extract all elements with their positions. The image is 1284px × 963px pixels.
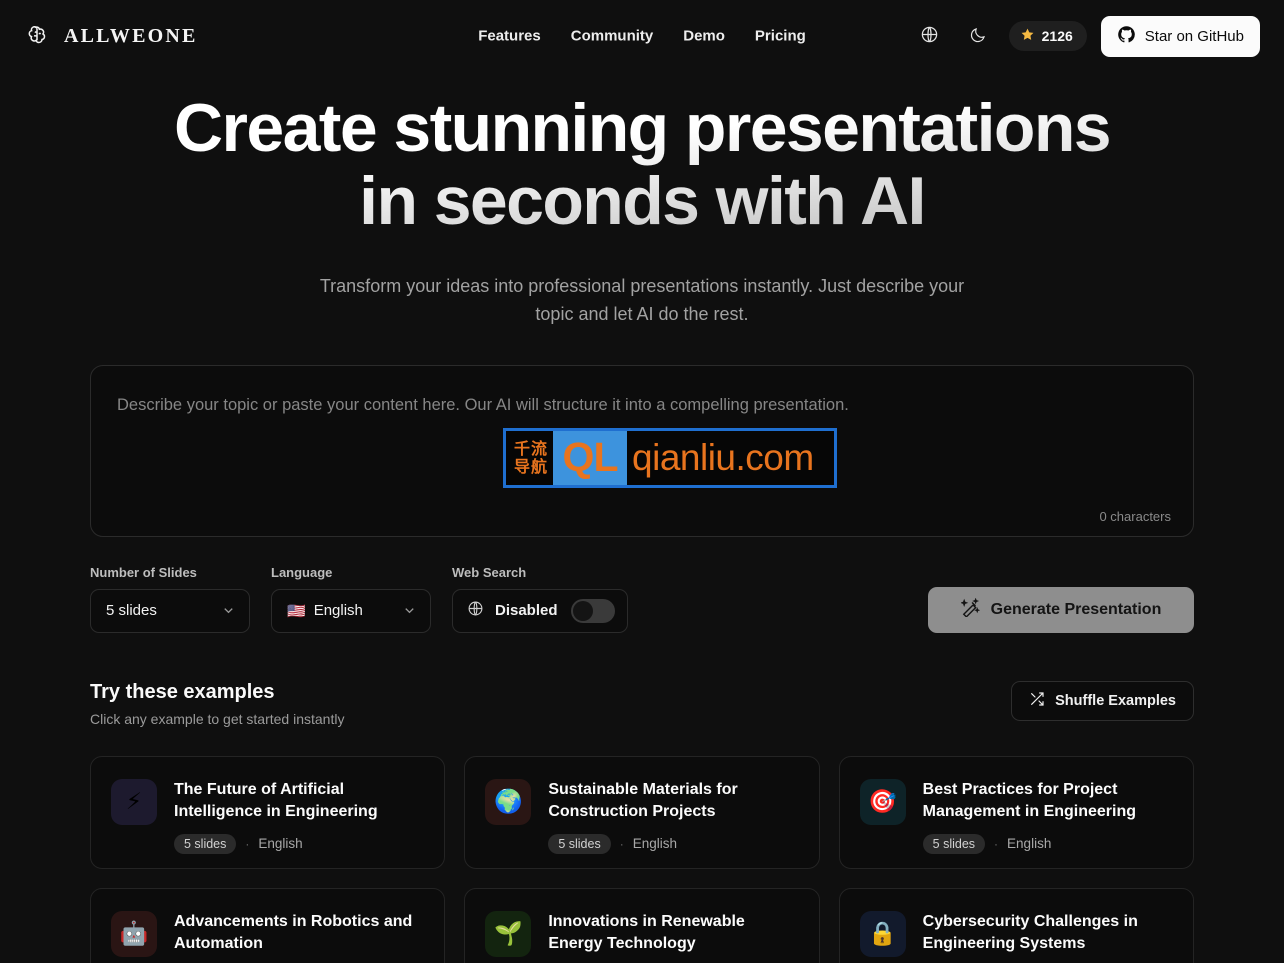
number-of-slides-select[interactable]: 5 slides (90, 589, 250, 633)
example-card[interactable]: ⚡ The Future of Artificial Intelligence … (90, 756, 445, 869)
generate-presentation-button[interactable]: Generate Presentation (928, 587, 1194, 633)
magic-wand-icon (961, 598, 980, 622)
example-card-meta: 5 slides · English (174, 834, 424, 854)
star-icon (1020, 27, 1035, 45)
examples-header: Try these examples Click any example to … (90, 681, 1194, 727)
page-title-line-1: Create stunning presentations (174, 90, 1110, 166)
example-card-meta: 5 slides · English (923, 834, 1173, 854)
hero-section: Create stunning presentations in seconds… (0, 72, 1284, 328)
github-star-count: 2126 (1042, 28, 1073, 44)
example-card-language: English (258, 836, 302, 851)
examples-title: Try these examples (90, 681, 344, 704)
chevron-down-icon (221, 603, 236, 618)
moon-icon (969, 26, 987, 47)
watermark-ql-mark: QL (553, 431, 627, 485)
shuffle-examples-button[interactable]: Shuffle Examples (1011, 681, 1194, 721)
qianliu-watermark: 千流 导航 QL qianliu.com (503, 428, 837, 488)
example-card-title: Cybersecurity Challenges in Engineering … (923, 911, 1173, 955)
examples-subtitle: Click any example to get started instant… (90, 711, 344, 727)
examples-section: Try these examples Click any example to … (90, 681, 1194, 963)
example-card-title: Best Practices for Project Management in… (923, 779, 1173, 823)
lightning-icon: ⚡ (111, 779, 157, 825)
lock-icon: 🔒 (860, 911, 906, 957)
generate-presentation-label: Generate Presentation (991, 601, 1162, 619)
example-card-language: English (1007, 836, 1051, 851)
globe-icon (920, 25, 939, 47)
example-card-language: English (633, 836, 677, 851)
earth-globe-icon: 🌍 (485, 779, 531, 825)
header-actions: 2126 Star on GitHub (913, 16, 1260, 57)
robot-icon: 🤖 (111, 911, 157, 957)
github-icon (1117, 25, 1136, 48)
number-of-slides-value: 5 slides (106, 602, 157, 619)
web-search-state-label: Disabled (495, 602, 558, 619)
status-badge: 5 slides (174, 834, 236, 854)
watermark-cn-line-2: 导航 (514, 458, 548, 475)
seedling-icon: 🌱 (485, 911, 531, 957)
example-card[interactable]: 🌱 Innovations in Renewable Energy Techno… (464, 888, 819, 963)
meta-separator: · (994, 837, 998, 851)
us-flag-icon: 🇺🇸 (287, 602, 306, 620)
watermark-chinese-text: 千流 导航 (506, 431, 553, 485)
example-card-title: Advancements in Robotics and Automation (174, 911, 424, 955)
example-card-title: The Future of Artificial Intelligence in… (174, 779, 424, 823)
language-value: English (314, 602, 363, 619)
brand-name: ALLWEONE (64, 25, 198, 48)
site-header: ALLWEONE Features Community Demo Pricing (0, 0, 1284, 72)
star-on-github-button[interactable]: Star on GitHub (1101, 16, 1260, 57)
shuffle-examples-label: Shuffle Examples (1055, 693, 1176, 709)
nav-link-features[interactable]: Features (478, 28, 541, 45)
example-card-meta: 5 slides · English (548, 834, 798, 854)
generation-controls: Number of Slides 5 slides Language 🇺🇸 En… (90, 565, 1194, 633)
language-select[interactable]: 🇺🇸 English (271, 589, 431, 633)
shuffle-icon (1029, 691, 1045, 711)
meta-separator: · (245, 837, 249, 851)
brain-icon (24, 23, 50, 49)
example-cards-grid: ⚡ The Future of Artificial Intelligence … (90, 756, 1194, 963)
slides-control-group: Number of Slides 5 slides (90, 565, 250, 633)
web-search-toggle-row[interactable]: Disabled (452, 589, 628, 633)
nav-link-community[interactable]: Community (571, 28, 654, 45)
watermark-domain: qianliu.com (627, 431, 814, 485)
example-card-title: Innovations in Renewable Energy Technolo… (548, 911, 798, 955)
language-control-group: Language 🇺🇸 English (271, 565, 431, 633)
example-card-title: Sustainable Materials for Construction P… (548, 779, 798, 823)
brand-logo[interactable]: ALLWEONE (24, 23, 198, 49)
web-search-switch[interactable] (571, 599, 615, 623)
page-title-line-2: in seconds with AI (359, 163, 925, 239)
web-search-label: Web Search (452, 565, 628, 580)
language-label: Language (271, 565, 431, 580)
globe-icon (467, 600, 484, 622)
nav-link-demo[interactable]: Demo (683, 28, 725, 45)
example-card[interactable]: 🤖 Advancements in Robotics and Automatio… (90, 888, 445, 963)
hero-subtitle: Transform your ideas into professional p… (302, 272, 982, 328)
status-badge: 5 slides (923, 834, 985, 854)
star-on-github-label: Star on GitHub (1145, 28, 1244, 45)
example-card[interactable]: 🌍 Sustainable Materials for Construction… (464, 756, 819, 869)
watermark-cn-line-1: 千流 (514, 440, 548, 457)
dart-target-icon: 🎯 (860, 779, 906, 825)
language-switcher-button[interactable] (913, 19, 947, 53)
status-badge: 5 slides (548, 834, 610, 854)
chevron-down-icon (402, 603, 417, 618)
slides-label: Number of Slides (90, 565, 250, 580)
github-star-badge[interactable]: 2126 (1009, 21, 1087, 51)
web-search-control-group: Web Search Disabled (452, 565, 628, 633)
nav-link-pricing[interactable]: Pricing (755, 28, 806, 45)
theme-toggle-button[interactable] (961, 19, 995, 53)
main-nav: Features Community Demo Pricing (478, 28, 806, 45)
example-card[interactable]: 🔒 Cybersecurity Challenges in Engineerin… (839, 888, 1194, 963)
meta-separator: · (620, 837, 624, 851)
topic-input-placeholder[interactable]: Describe your topic or paste your conten… (117, 396, 1167, 415)
example-card[interactable]: 🎯 Best Practices for Project Management … (839, 756, 1194, 869)
topic-composer[interactable]: Describe your topic or paste your conten… (90, 365, 1194, 537)
character-counter: 0 characters (1099, 509, 1171, 524)
page-title: Create stunning presentations in seconds… (0, 92, 1284, 238)
